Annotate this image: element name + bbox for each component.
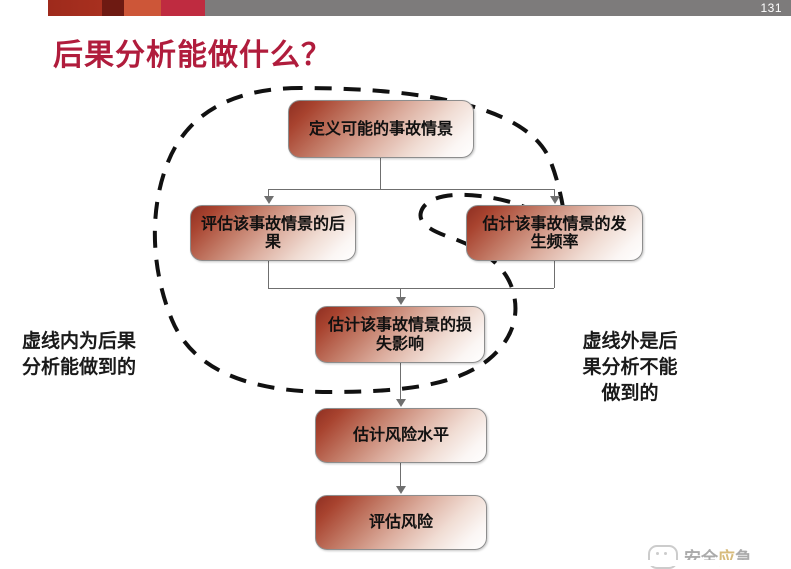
watermark-text-after: 急 xyxy=(735,549,752,569)
header-accent-segment-1 xyxy=(48,0,102,16)
arrow-to-freq xyxy=(550,196,560,204)
connector-merge-horizontal xyxy=(268,288,554,289)
connector-freq-down xyxy=(554,261,555,288)
connector-split-horizontal xyxy=(268,189,554,190)
flow-box-evaluate-risk[interactable]: 评估风险 xyxy=(315,495,487,550)
header-gray-bar xyxy=(205,0,791,16)
bottom-edge xyxy=(0,560,791,566)
watermark-text-highlight: 应 xyxy=(718,549,735,569)
annotation-inside-dashed: 虚线内为后果 分析能做到的 xyxy=(22,328,197,380)
dashed-region-icon xyxy=(0,0,791,566)
annotation-outside-dashed: 虚线外是后 果分析不能 做到的 xyxy=(555,328,705,407)
arrow-to-loss xyxy=(396,297,406,305)
connector-define-down xyxy=(380,158,381,189)
header-band: 131 xyxy=(0,0,791,16)
flow-box-loss-impact[interactable]: 估计该事故情景的损失影响 xyxy=(315,306,485,363)
connector-consq-down xyxy=(268,261,269,288)
arrow-to-consq xyxy=(264,196,274,204)
flow-box-risk-level[interactable]: 估计风险水平 xyxy=(315,408,487,463)
page-number: 131 xyxy=(760,0,782,16)
header-accent-segment-4 xyxy=(161,0,205,16)
header-accent-segment-2 xyxy=(102,0,124,16)
flow-box-frequency[interactable]: 估计该事故情景的发生频率 xyxy=(466,205,643,261)
flow-box-define[interactable]: 定义可能的事故情景 xyxy=(288,100,474,158)
page-title: 后果分析能做什么？ xyxy=(53,30,332,74)
connector-risklevel-down xyxy=(400,463,401,486)
watermark-text-before: 安全 xyxy=(684,549,718,569)
header-accent-segment-3 xyxy=(124,0,161,16)
connector-loss-down xyxy=(400,363,401,399)
slide-canvas: 131 后果分析能做什么？ 定义可能的事故情景 评估该事故情景的后果 估计该事故… xyxy=(0,0,791,566)
flow-box-consequence[interactable]: 评估该事故情景的后果 xyxy=(190,205,356,261)
arrow-to-evalrisk xyxy=(396,486,406,494)
arrow-to-risklevel xyxy=(396,399,406,407)
